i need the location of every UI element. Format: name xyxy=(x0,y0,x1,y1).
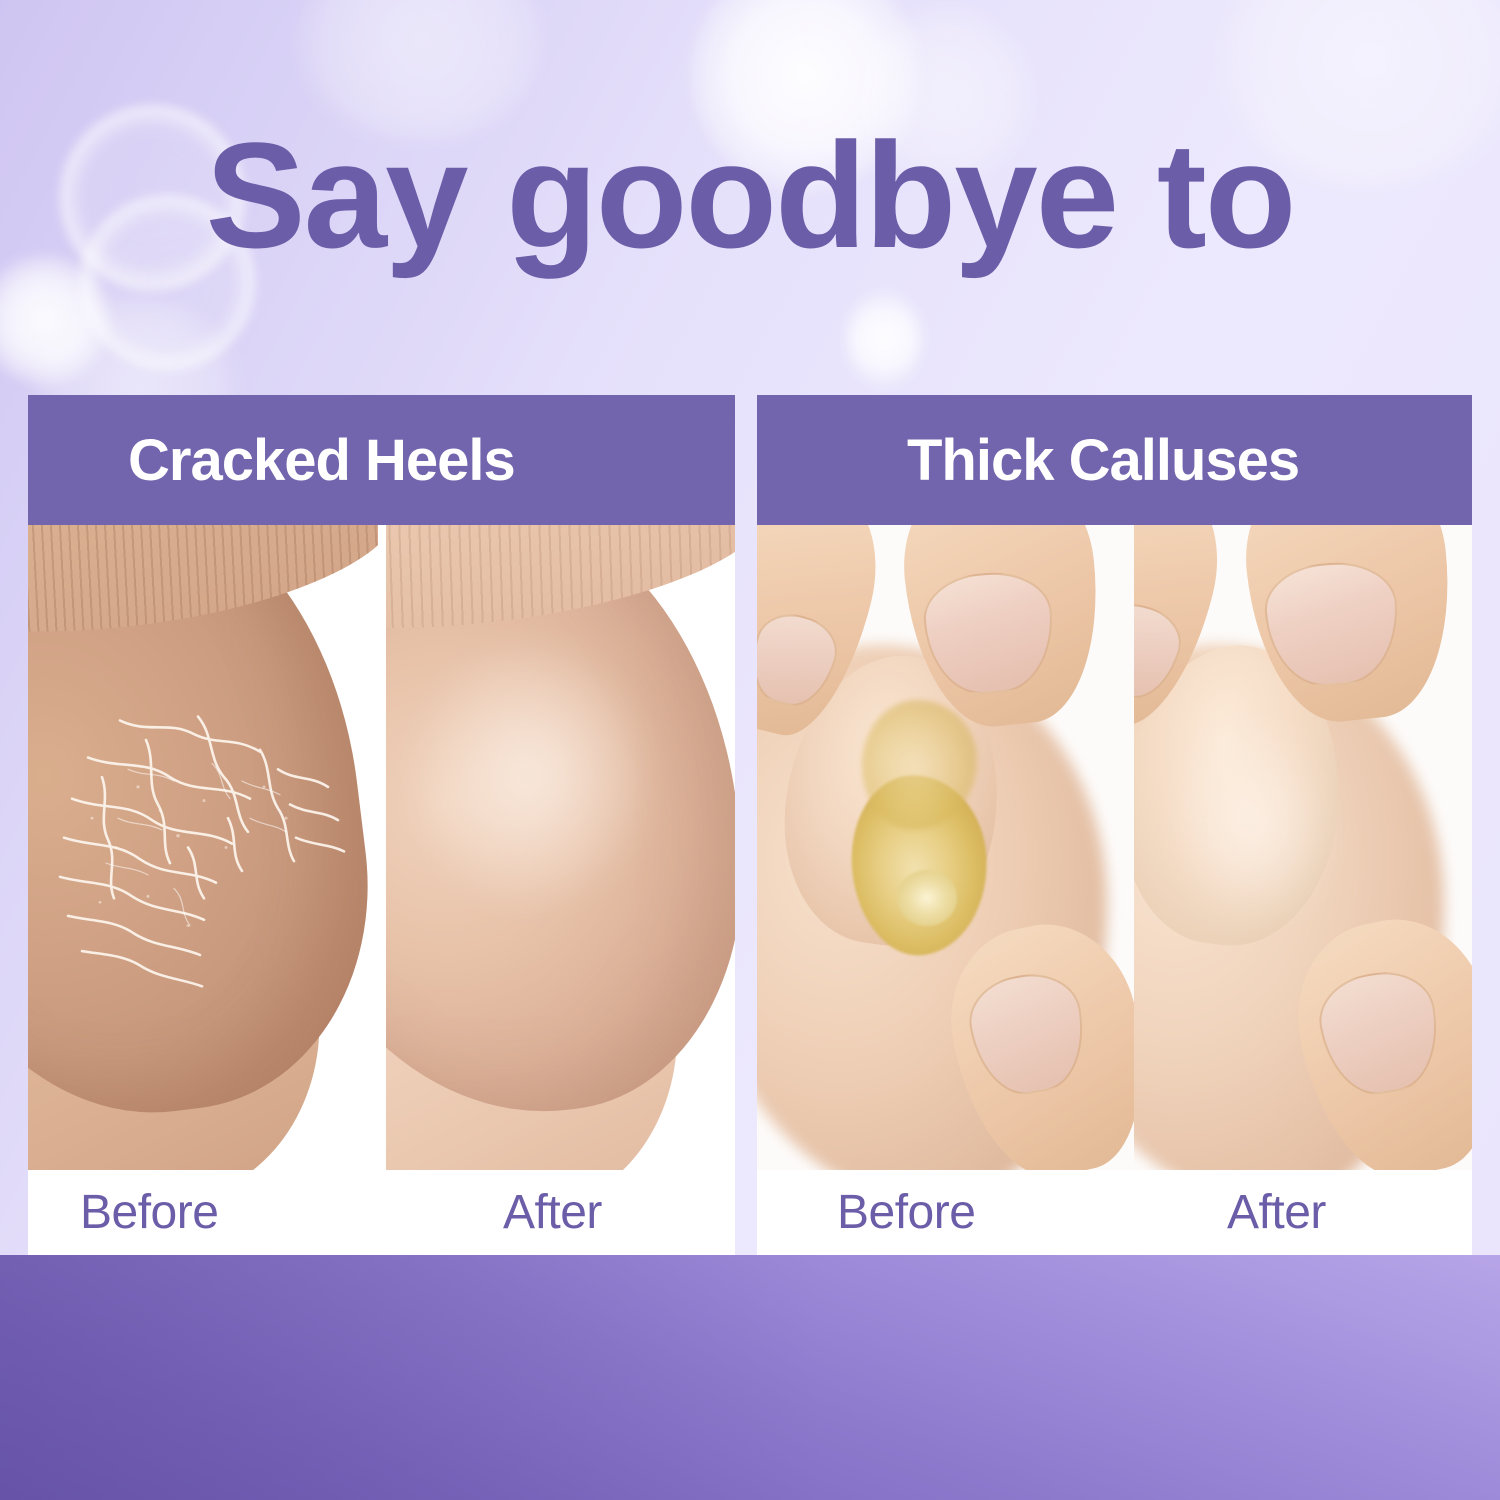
card-title: Thick Calluses xyxy=(907,427,1299,494)
photo-after xyxy=(1134,525,1472,1170)
photo-before xyxy=(28,525,378,1170)
page-title: Say goodbye to xyxy=(0,120,1500,270)
card-cracked-heels: Cracked Heels xyxy=(28,395,735,1255)
skin-highlight xyxy=(416,645,646,905)
card-title: Cracked Heels xyxy=(128,427,515,494)
card-captions: Before After xyxy=(757,1170,1472,1255)
skin-highlight xyxy=(1174,725,1334,925)
caption-after: After xyxy=(503,1185,602,1240)
caption-before: Before xyxy=(80,1185,218,1240)
card-thick-calluses: Thick Calluses xyxy=(757,395,1472,1255)
card-header: Thick Calluses xyxy=(757,395,1472,525)
photo-after xyxy=(386,525,735,1170)
card-photos xyxy=(28,525,735,1170)
card-photos xyxy=(757,525,1472,1170)
card-captions: Before After xyxy=(28,1170,735,1255)
dry-cracked-skin-texture xyxy=(28,525,378,1170)
caption-before: Before xyxy=(837,1185,975,1240)
caption-after: After xyxy=(1227,1185,1326,1240)
photo-before xyxy=(757,525,1134,1170)
background-gradient-bottom xyxy=(0,1255,1500,1500)
callus-center xyxy=(897,870,957,926)
comparison-cards: Cracked Heels xyxy=(28,395,1472,1255)
photo-divider xyxy=(378,525,386,1170)
card-header: Cracked Heels xyxy=(28,395,735,525)
promo-banner: Say goodbye to Cracked Heels xyxy=(0,0,1500,1500)
